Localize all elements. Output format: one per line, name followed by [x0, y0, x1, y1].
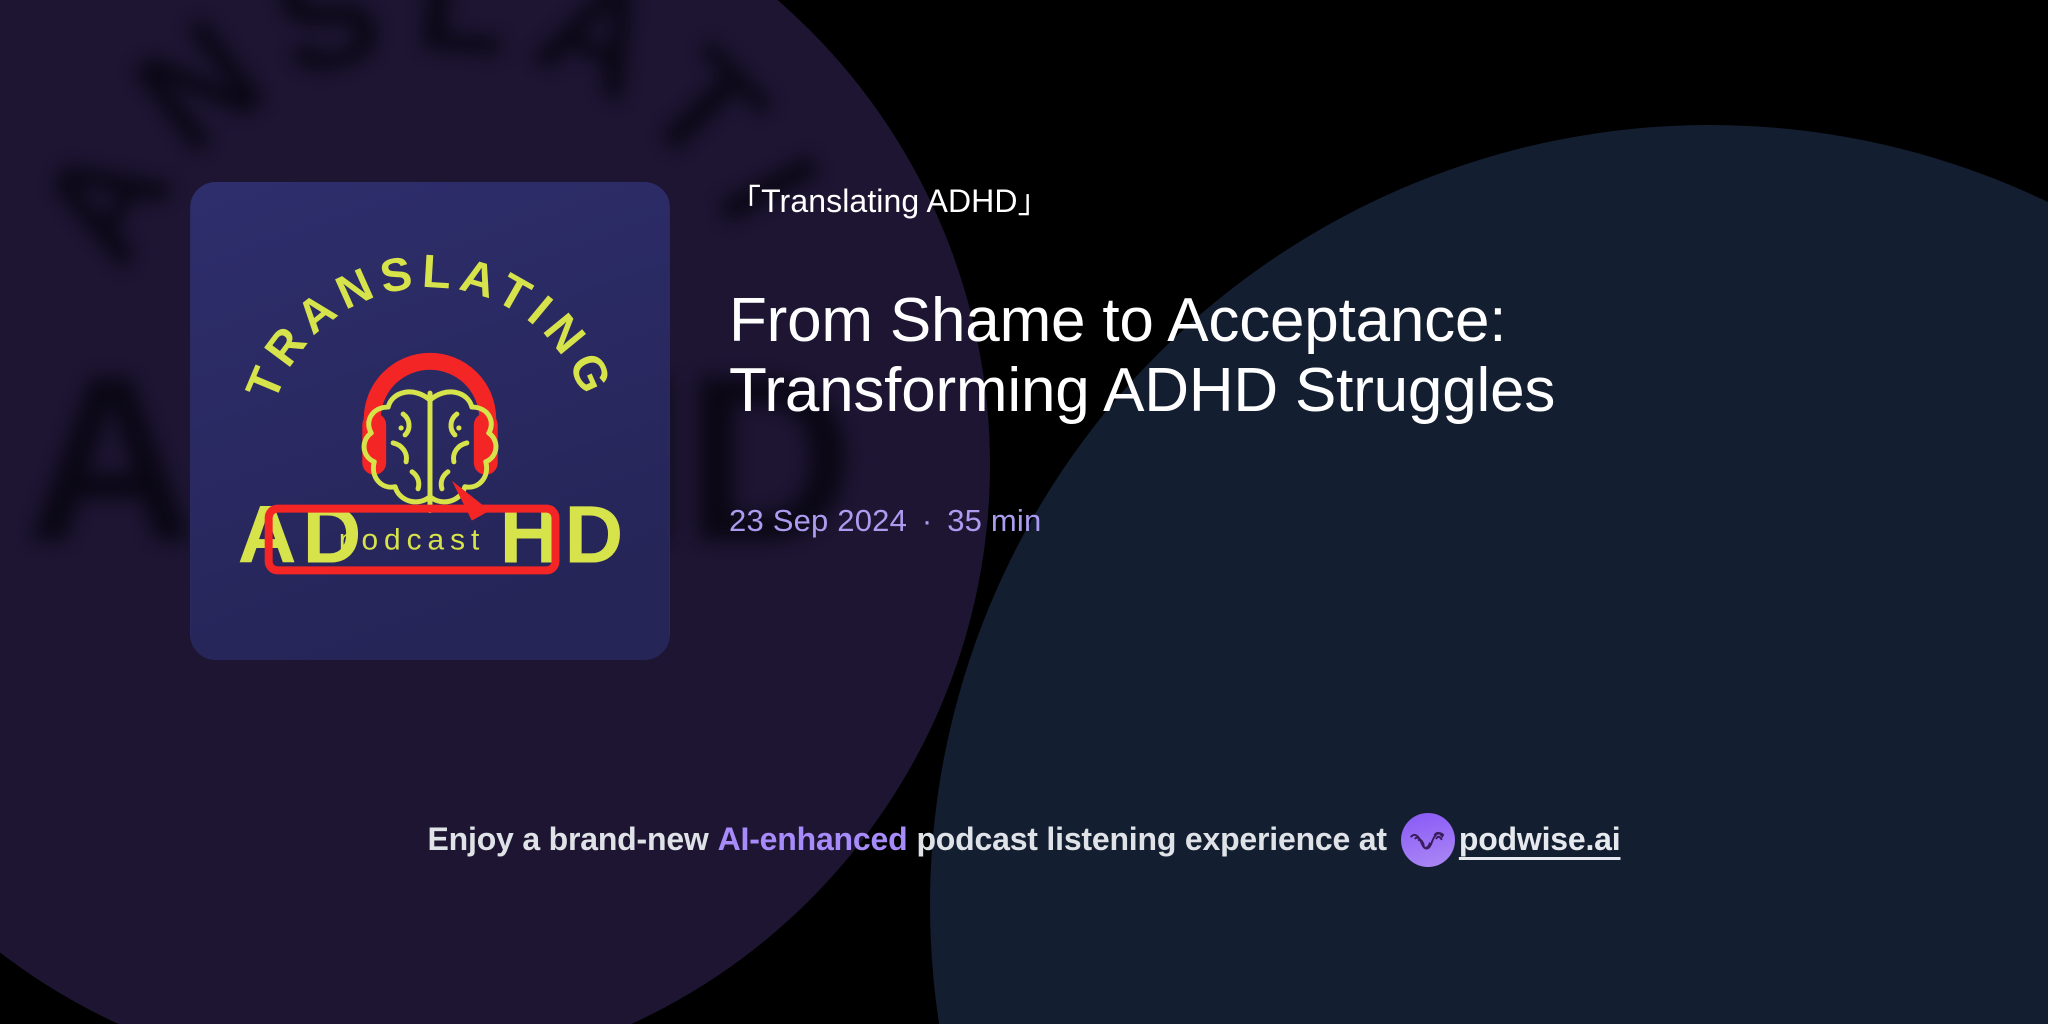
episode-duration: 35 min	[947, 503, 1041, 538]
podwise-link[interactable]: podwise.ai	[1459, 821, 1621, 858]
podwise-brand[interactable]: podwise.ai	[1401, 812, 1621, 866]
meta-separator: ·	[916, 503, 939, 538]
episode-share-card: TRANSLATING AD HD TRANSLATIN	[0, 0, 2048, 1024]
footer-accent-text: AI-enhanced	[718, 821, 908, 858]
podwise-logo-icon	[1401, 813, 1455, 867]
footer-tagline: Enjoy a brand-new AI-enhanced podcast li…	[0, 812, 2048, 866]
episode-meta: 23 Sep 2024 · 35 min	[729, 503, 1929, 539]
episode-date: 23 Sep 2024	[729, 503, 907, 538]
episode-info: 「Translating ADHD」 From Shame to Accepta…	[729, 182, 1929, 539]
footer-lead-text: Enjoy a brand-new	[428, 821, 709, 858]
podcast-name: 「Translating ADHD」	[729, 182, 1929, 220]
podcast-cover-art[interactable]: TRANSLATING	[190, 182, 670, 660]
svg-text:podcast: podcast	[339, 523, 485, 556]
episode-title: From Shame to Acceptance: Transforming A…	[729, 286, 1779, 425]
footer-tail-text: podcast listening experience at	[916, 821, 1386, 858]
